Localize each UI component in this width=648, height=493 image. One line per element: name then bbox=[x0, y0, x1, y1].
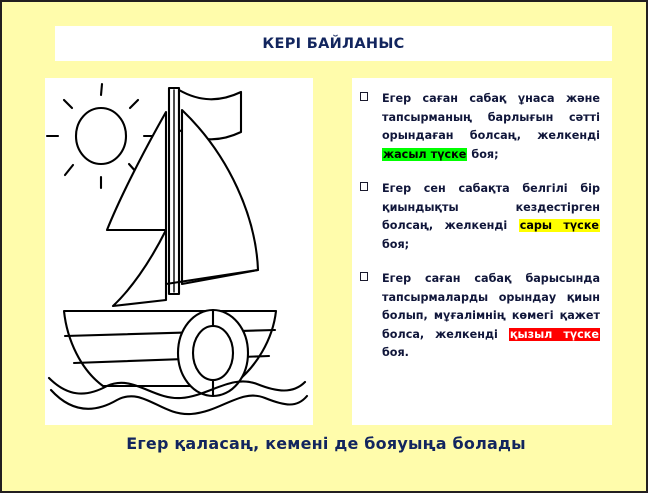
life-ring-inner bbox=[193, 326, 233, 380]
instructions-panel: Егер саған сабақ ұнаса және тапсырманың … bbox=[352, 78, 612, 425]
highlight-green: жасыл түске bbox=[382, 148, 467, 161]
title-banner: КЕРІ БАЙЛАНЫС bbox=[55, 26, 612, 61]
sun-icon bbox=[76, 108, 126, 164]
instruction-3-tail: боя. bbox=[382, 346, 409, 359]
empty-square-bullet-icon bbox=[360, 270, 382, 283]
footer-text: Егер қаласаң, кемені де бояуыңа болады bbox=[126, 434, 526, 453]
page-title: КЕРІ БАЙЛАНЫС bbox=[262, 36, 404, 52]
instruction-text-red: Егер саған сабақ барысында тапсырмаларды… bbox=[382, 270, 600, 363]
instruction-1-lead: Егер саған сабақ ұнаса және тапсырманың … bbox=[382, 92, 600, 142]
highlight-red: қызыл түске bbox=[509, 328, 600, 341]
footer-area: Егер қаласаң, кемені де бояуыңа болады bbox=[2, 434, 648, 453]
illustration-panel bbox=[45, 78, 313, 425]
highlight-yellow: сары түске bbox=[519, 219, 600, 232]
instruction-2-tail: боя; bbox=[382, 238, 409, 251]
sailboat-illustration bbox=[45, 78, 313, 425]
list-item: Егер сен сабақта белгілі бір қиындықты к… bbox=[360, 180, 600, 254]
list-item: Егер саған сабақ барысында тапсырмаларды… bbox=[360, 270, 600, 363]
instruction-text-green: Егер саған сабақ ұнаса және тапсырманың … bbox=[382, 90, 600, 164]
instruction-text-yellow: Егер сен сабақта белгілі бір қиындықты к… bbox=[382, 180, 600, 254]
lower-sail bbox=[113, 230, 166, 306]
empty-square-bullet-icon bbox=[360, 90, 382, 103]
empty-square-bullet-icon bbox=[360, 180, 382, 193]
instruction-1-tail: боя; bbox=[467, 148, 498, 161]
slide-canvas: КЕРІ БАЙЛАНЫС bbox=[0, 0, 648, 493]
list-item: Егер саған сабақ ұнаса және тапсырманың … bbox=[360, 90, 600, 164]
